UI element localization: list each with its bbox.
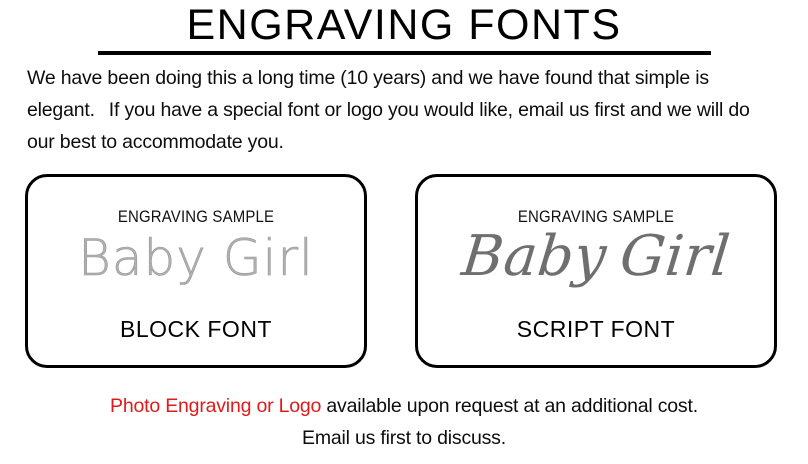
footer-note: Photo Engraving or Logo available upon r… xyxy=(0,390,808,454)
footer-highlight-text: Photo Engraving or Logo xyxy=(110,395,321,417)
page-header: ENGRAVING FONTS xyxy=(0,2,808,55)
script-card-inner: ENGRAVING SAMPLE BabyGirl SCRIPT FONT xyxy=(418,177,774,365)
script-sample-name: BabyGirl xyxy=(414,221,778,293)
script-font-label: SCRIPT FONT xyxy=(418,316,774,343)
footer-line-2: Email us first to discuss. xyxy=(0,422,808,454)
footer-rest-text: available upon request at an additional … xyxy=(321,395,698,417)
block-sample-caption: ENGRAVING SAMPLE xyxy=(48,207,344,227)
footer-line-1: Photo Engraving or Logo available upon r… xyxy=(0,390,808,422)
block-font-sample-card: ENGRAVING SAMPLE BabyGirl BLOCK FONT xyxy=(25,174,367,368)
script-sample-name-word1: Baby xyxy=(459,224,610,289)
script-font-sample-card: ENGRAVING SAMPLE BabyGirl SCRIPT FONT xyxy=(415,174,777,368)
block-sample-name: BabyGirl xyxy=(28,227,364,289)
title-underline-rule xyxy=(98,51,711,55)
intro-line-1: We have been doing this a long time (10 … xyxy=(27,67,630,89)
sample-cards-row: ENGRAVING SAMPLE BabyGirl BLOCK FONT ENG… xyxy=(0,174,808,374)
intro-paragraph: We have been doing this a long time (10 … xyxy=(27,62,769,158)
block-sample-name-word2: Girl xyxy=(223,229,314,287)
intro-line-2b: If you have a special font or logo you w… xyxy=(109,99,589,121)
page-title: ENGRAVING FONTS xyxy=(0,2,808,48)
block-card-inner: ENGRAVING SAMPLE BabyGirl BLOCK FONT xyxy=(28,177,364,365)
block-font-label: BLOCK FONT xyxy=(28,316,364,343)
block-sample-name-word1: Baby xyxy=(78,229,207,287)
script-sample-name-word2: Girl xyxy=(617,224,733,289)
